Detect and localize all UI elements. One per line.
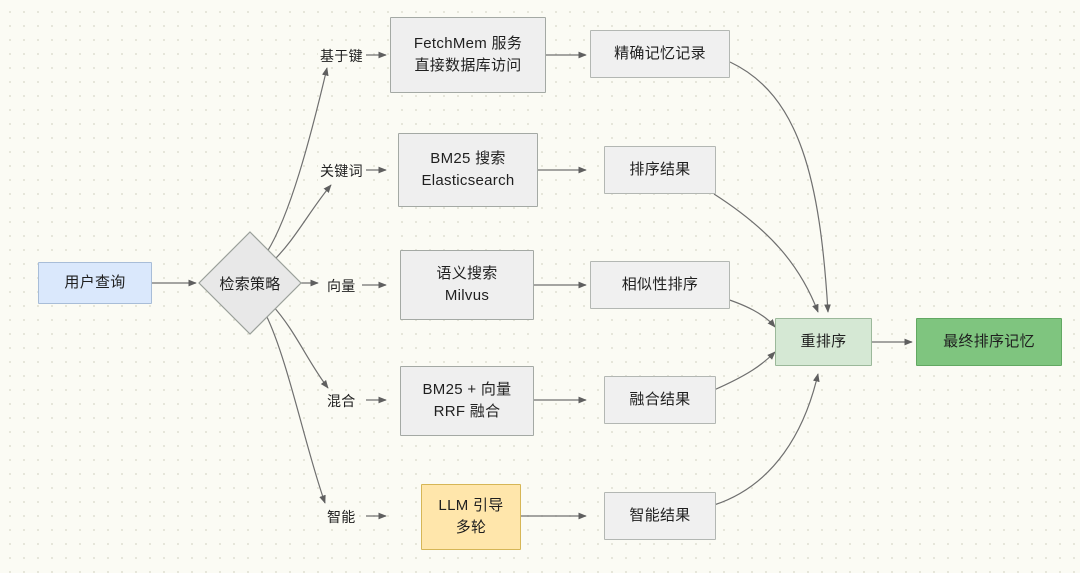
node-final-ranked-memory[interactable]: 最终排序记忆 <box>916 318 1062 366</box>
node-final-ranked-memory-label: 最终排序记忆 <box>943 331 1035 354</box>
node-rerank[interactable]: 重排序 <box>775 318 872 366</box>
node-similarity-ranking-label: 相似性排序 <box>622 274 699 297</box>
flowchart-canvas: 用户查询 检索策略 基于键 关键词 向量 混合 智能 FetchMem 服务 直… <box>0 0 1080 573</box>
node-bm25-vector-rrf[interactable]: BM25 + 向量 RRF 融合 <box>400 366 534 436</box>
edge-label-smart: 智能 <box>325 507 358 527</box>
node-bm25-elasticsearch-line1: BM25 搜索 <box>430 148 505 171</box>
node-rerank-label: 重排序 <box>801 331 847 354</box>
edge-label-hybrid: 混合 <box>325 391 358 411</box>
edge-label-keyword: 关键词 <box>318 161 365 181</box>
node-bm25-vector-rrf-line1: BM25 + 向量 <box>423 379 512 402</box>
node-retrieval-strategy[interactable]: 检索策略 <box>197 230 303 336</box>
node-smart-results[interactable]: 智能结果 <box>604 492 716 540</box>
node-llm-guided-multiturn-line2: 多轮 <box>456 517 487 540</box>
node-ranked-results-label: 排序结果 <box>629 159 690 182</box>
node-user-query[interactable]: 用户查询 <box>38 262 152 304</box>
node-llm-guided-multiturn-line1: LLM 引导 <box>438 495 503 518</box>
node-fusion-results[interactable]: 融合结果 <box>604 376 716 424</box>
node-exact-memory-record[interactable]: 精确记忆记录 <box>590 30 730 78</box>
edge-decision-to-key <box>267 68 327 252</box>
node-fusion-results-label: 融合结果 <box>629 389 690 412</box>
node-llm-guided-multiturn[interactable]: LLM 引导 多轮 <box>421 484 521 550</box>
node-similarity-ranking[interactable]: 相似性排序 <box>590 261 730 309</box>
edge-result-key-to-rerank <box>730 62 828 312</box>
node-smart-results-label: 智能结果 <box>629 505 690 528</box>
node-ranked-results[interactable]: 排序结果 <box>604 146 716 194</box>
node-bm25-elasticsearch-line2: Elasticsearch <box>421 170 514 193</box>
node-fetchmem-service-line2: 直接数据库访问 <box>414 55 521 78</box>
edge-result-smart-to-rerank <box>714 374 818 505</box>
node-fetchmem-service-line1: FetchMem 服务 <box>414 33 522 56</box>
node-bm25-vector-rrf-line2: RRF 融合 <box>434 401 501 424</box>
node-semantic-search-milvus-line2: Milvus <box>445 285 489 308</box>
edge-label-key: 基于键 <box>318 46 365 66</box>
node-bm25-elasticsearch[interactable]: BM25 搜索 Elasticsearch <box>398 133 538 207</box>
edge-decision-to-smart <box>266 315 325 503</box>
node-user-query-label: 用户查询 <box>64 272 125 295</box>
edge-label-vector: 向量 <box>325 276 358 296</box>
node-retrieval-strategy-label: 检索策略 <box>197 230 303 336</box>
node-exact-memory-record-label: 精确记忆记录 <box>614 43 706 66</box>
edge-result-hybrid-to-rerank <box>714 352 775 390</box>
node-fetchmem-service[interactable]: FetchMem 服务 直接数据库访问 <box>390 17 546 93</box>
node-semantic-search-milvus[interactable]: 语义搜索 Milvus <box>400 250 534 320</box>
node-semantic-search-milvus-line1: 语义搜索 <box>436 263 497 286</box>
